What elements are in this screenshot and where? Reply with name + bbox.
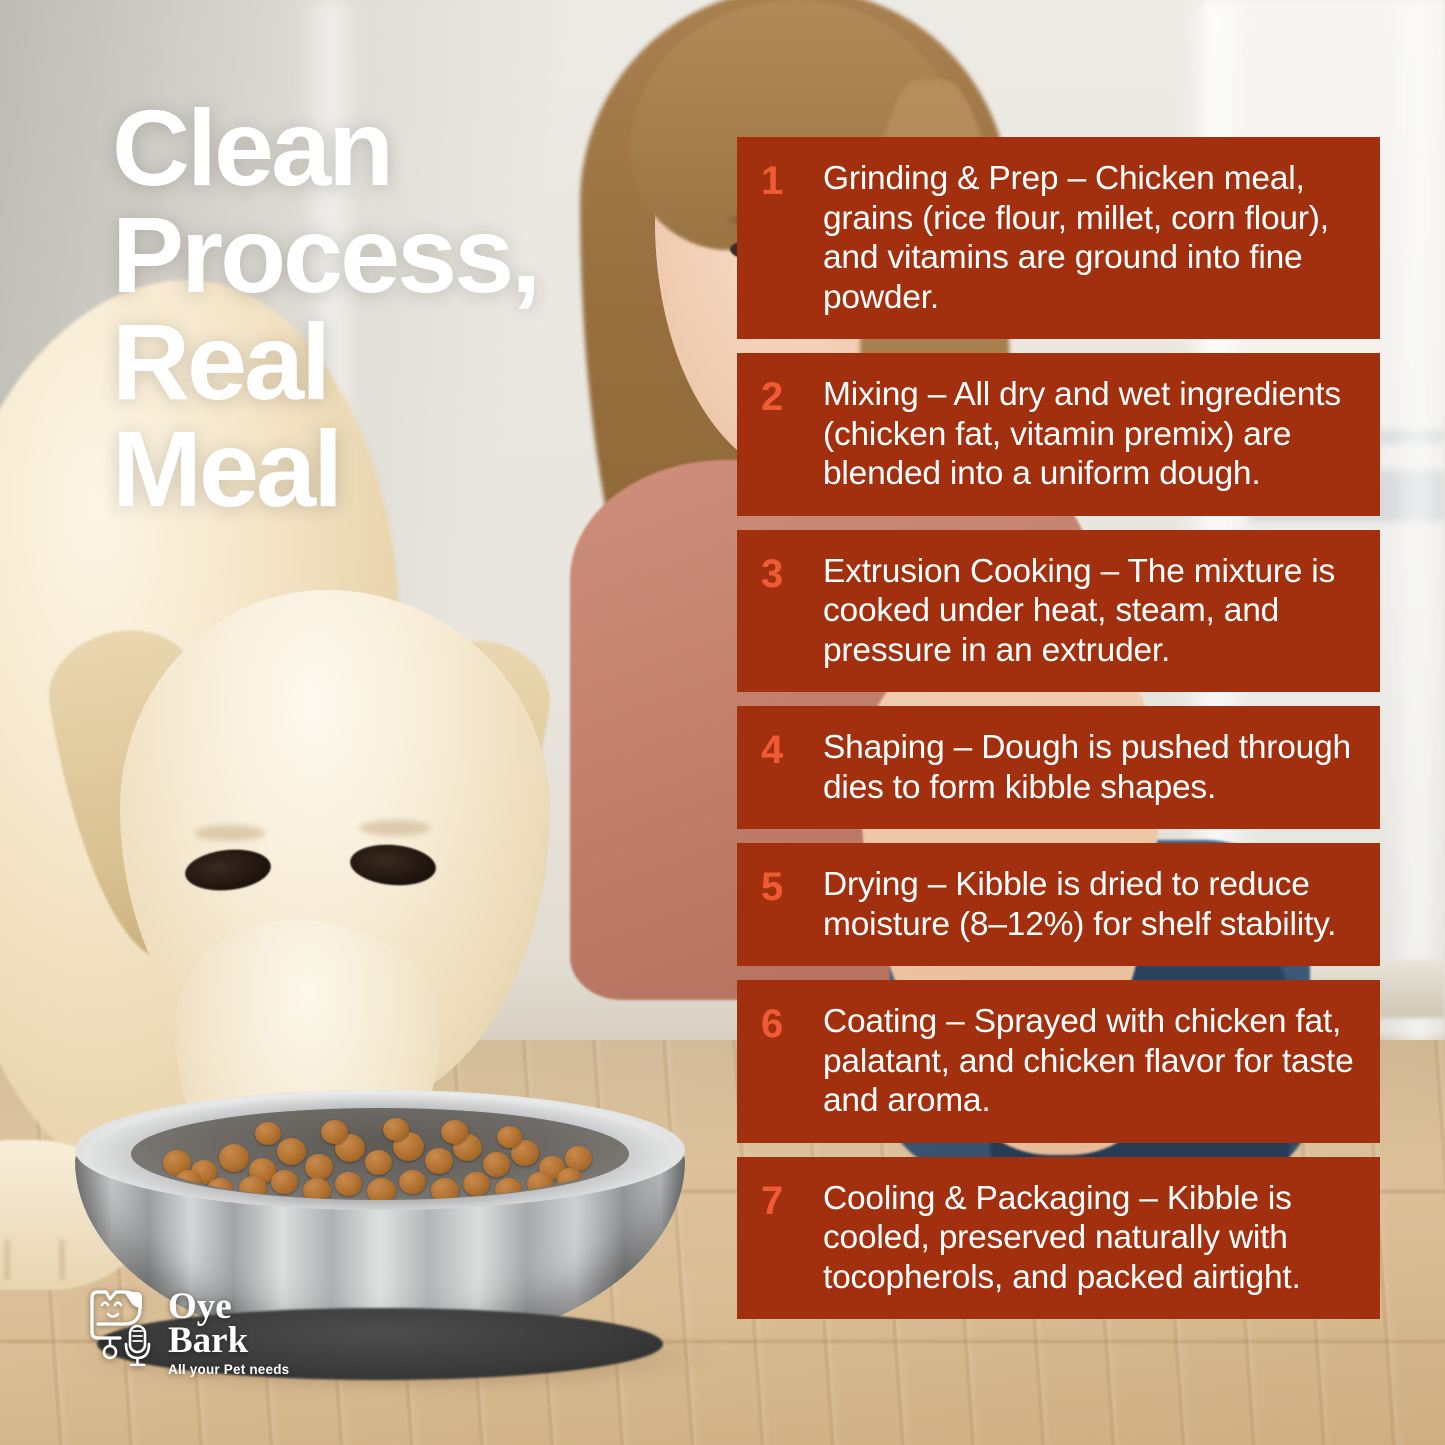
brand-tagline: All your Pet needs xyxy=(168,1362,289,1377)
step-number: 5 xyxy=(761,865,823,944)
kibble-pile xyxy=(145,1108,615,1200)
process-step[interactable]: 7 Cooling & Packaging – Kibble is cooled… xyxy=(737,1157,1380,1320)
step-description: Cooling & Packaging – Kibble is cooled, … xyxy=(823,1179,1360,1298)
step-description: Extrusion Cooking – The mixture is cooke… xyxy=(823,552,1360,671)
step-description: Drying – Kibble is dried to reduce moist… xyxy=(823,865,1360,944)
brand-name: Oye Bark xyxy=(168,1290,289,1358)
process-step[interactable]: 5 Drying – Kibble is dried to reduce moi… xyxy=(737,843,1380,966)
step-number: 1 xyxy=(761,159,823,317)
step-description: Shaping – Dough is pushed through dies t… xyxy=(823,728,1360,807)
process-step[interactable]: 1 Grinding & Prep – Chicken meal, grains… xyxy=(737,137,1380,339)
step-number: 4 xyxy=(761,728,823,807)
step-number: 7 xyxy=(761,1179,823,1298)
step-description: Mixing – All dry and wet ingredients (ch… xyxy=(823,375,1360,494)
process-step[interactable]: 6 Coating – Sprayed with chicken fat, pa… xyxy=(737,980,1380,1143)
logo-text-block: Oye Bark All your Pet needs xyxy=(168,1288,289,1377)
dog-head-microphone-icon xyxy=(86,1288,156,1371)
process-step[interactable]: 3 Extrusion Cooking – The mixture is coo… xyxy=(737,530,1380,693)
step-number: 3 xyxy=(761,552,823,671)
step-description: Grinding & Prep – Chicken meal, grains (… xyxy=(823,159,1360,317)
process-step[interactable]: 4 Shaping – Dough is pushed through dies… xyxy=(737,706,1380,829)
step-number: 6 xyxy=(761,1002,823,1121)
dog-brow xyxy=(360,820,430,836)
step-description: Coating – Sprayed with chicken fat, pala… xyxy=(823,1002,1360,1121)
brand-logo[interactable]: Oye Bark All your Pet needs xyxy=(86,1288,289,1377)
poster: Clean Process, Real Meal 1 Grinding & Pr… xyxy=(0,0,1445,1445)
step-number: 2 xyxy=(761,375,823,494)
process-step[interactable]: 2 Mixing – All dry and wet ingredients (… xyxy=(737,353,1380,516)
page-title: Clean Process, Real Meal xyxy=(112,95,538,523)
process-steps-list: 1 Grinding & Prep – Chicken meal, grains… xyxy=(737,137,1380,1333)
dog-brow xyxy=(195,825,265,841)
